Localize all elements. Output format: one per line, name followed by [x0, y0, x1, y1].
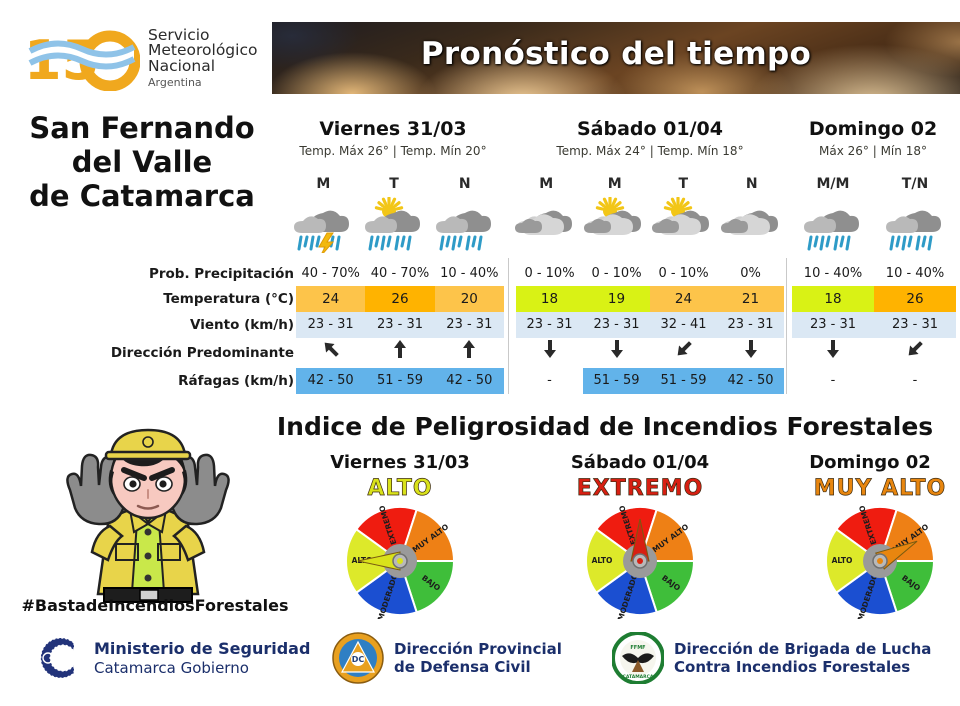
sun-cloud-rain-icon	[362, 197, 426, 253]
wind-cell: 23 - 31	[516, 312, 583, 338]
defensa-civil-badge-icon: DC	[332, 632, 384, 684]
gust-cell: -	[792, 368, 874, 394]
arrow-down-icon	[540, 338, 560, 360]
gust-cell: 42 - 50	[296, 368, 365, 394]
day-header-friday: Viernes 31/03 Temp. Máx 26° | Temp. Mín …	[280, 118, 506, 158]
footer-line-2: Catamarca Gobierno	[94, 659, 310, 677]
table-row: 242620	[296, 286, 504, 312]
gust-cell: -	[516, 368, 583, 394]
wind-direction-cell	[792, 338, 874, 368]
table-row: 23 - 3123 - 31	[792, 312, 956, 338]
prec-cell: 10 - 40%	[435, 262, 504, 286]
svg-text:ALTO: ALTO	[592, 556, 613, 565]
prec-cell: 0%	[717, 262, 784, 286]
data-grid-saturday: 0 - 10%0 - 10%0 - 10%0%1819242123 - 3123…	[516, 262, 784, 394]
catamarca-c-logo-icon	[28, 630, 84, 686]
wind-cell: 23 - 31	[874, 312, 956, 338]
row-label-gusts: Ráfagas (km/h)	[96, 368, 294, 394]
table-row: 1826	[792, 286, 956, 312]
weather-icon-cell	[429, 196, 500, 254]
footer-line-2: de Defensa Civil	[394, 658, 562, 676]
city-line-2: del Valle	[6, 146, 278, 180]
wind-cell: 32 - 41	[650, 312, 717, 338]
slot-label: T	[359, 176, 430, 192]
prec-cell: 40 - 70%	[365, 262, 434, 286]
weather-icon-cell	[718, 196, 787, 254]
wind-direction-cell	[516, 338, 583, 368]
smn-logo-text: Servicio Meteorológico Nacional Argentin…	[148, 28, 257, 89]
day-name: Viernes 31/03	[280, 118, 506, 140]
fire-danger-gauge: EXTREMOMUY ALTOBAJOMODERADOALTO	[342, 503, 458, 619]
page-title: Pronóstico del tiempo	[272, 36, 960, 72]
table-row: 23 - 3123 - 3123 - 31	[296, 312, 504, 338]
cloud-rain-icon	[801, 197, 865, 253]
arrow-down-icon	[607, 338, 627, 360]
gust-cell: 51 - 59	[365, 368, 434, 394]
arrow-up-icon	[459, 338, 479, 360]
icon-row-sunday	[792, 196, 956, 254]
cloud-icon	[514, 197, 578, 253]
temp-cell: 19	[583, 286, 650, 312]
prec-cell: 0 - 10%	[650, 262, 717, 286]
arrow-up-icon	[390, 338, 410, 360]
wind-direction-cell	[874, 338, 956, 368]
temp-cell: 20	[435, 286, 504, 312]
wind-direction-cell	[435, 338, 504, 368]
svg-text:ALTO: ALTO	[832, 556, 853, 565]
table-row: 10 - 40%10 - 40%	[792, 262, 956, 286]
arrow-down-left-icon	[674, 338, 694, 360]
table-row-labels: Prob. Precipitación Temperatura (°C) Vie…	[96, 262, 294, 394]
day-name: Domingo 02	[790, 118, 956, 140]
sun-cloud-icon	[583, 197, 647, 253]
day-temp-summary: Temp. Máx 24° | Temp. Mín 18°	[516, 144, 784, 158]
fire-day-sunday: Domingo 02	[780, 452, 960, 473]
row-label-wind: Viento (km/h)	[96, 312, 294, 338]
row-label-precipitation: Prob. Precipitación	[96, 262, 294, 286]
day-name: Sábado 01/04	[516, 118, 784, 140]
wind-cell: 23 - 31	[792, 312, 874, 338]
prec-cell: 40 - 70%	[296, 262, 365, 286]
wind-direction-cell	[296, 338, 365, 368]
temp-cell: 18	[516, 286, 583, 312]
slot-label: T/N	[874, 176, 956, 192]
fire-day-friday: Viernes 31/03	[300, 452, 500, 473]
fire-section-title: Indice de Peligrosidad de Incendios Fore…	[250, 412, 960, 441]
column-divider-2	[786, 258, 787, 394]
day-header-sunday: Domingo 02 Máx 26° | Mín 18°	[790, 118, 956, 158]
svg-text:DC: DC	[352, 655, 365, 664]
slot-label: M	[512, 176, 581, 192]
wind-cell: 23 - 31	[365, 312, 434, 338]
cloud-rain-icon	[883, 197, 947, 253]
temp-cell: 18	[792, 286, 874, 312]
column-divider-1	[508, 258, 509, 394]
header-banner: Pronóstico del tiempo	[272, 22, 960, 94]
fire-level-label: ALTO	[310, 476, 490, 501]
sun-cloud-icon	[651, 197, 715, 253]
weather-icon-cell	[359, 196, 430, 254]
footer-entity-text: Ministerio de Seguridad Catamarca Gobier…	[94, 639, 310, 676]
gust-cell: 51 - 59	[583, 368, 650, 394]
footer-line-1: Dirección Provincial	[394, 640, 562, 658]
table-row: 18192421	[516, 286, 784, 312]
temp-cell: 21	[717, 286, 784, 312]
wind-direction-cell	[365, 338, 434, 368]
slot-label: M	[288, 176, 359, 192]
prec-cell: 0 - 10%	[583, 262, 650, 286]
table-row: --	[792, 368, 956, 394]
slot-label: M	[581, 176, 650, 192]
table-row	[296, 338, 504, 368]
gust-cell: 51 - 59	[650, 368, 717, 394]
smn-150-mark: 15	[22, 25, 140, 91]
footer-line-1: Ministerio de Seguridad	[94, 639, 310, 658]
day-header-saturday: Sábado 01/04 Temp. Máx 24° | Temp. Mín 1…	[516, 118, 784, 158]
gust-cell: -	[874, 368, 956, 394]
city-name: San Fernando del Valle de Catamarca	[6, 112, 278, 214]
slot-label: N	[718, 176, 787, 192]
storm-rain-icon	[291, 197, 355, 253]
arrow-down-left-icon	[905, 338, 925, 360]
fire-level-label: EXTREMO	[550, 476, 730, 501]
gust-cell: 42 - 50	[717, 368, 784, 394]
arrow-up-left-icon	[321, 338, 341, 360]
fire-gauge-saturday: EXTREMOEXTREMOMUY ALTOBAJOMODERADOALTO	[550, 476, 730, 619]
fire-gauge-friday: ALTOEXTREMOMUY ALTOBAJOMODERADOALTO	[310, 476, 490, 619]
arrow-down-icon	[823, 338, 843, 360]
table-row: 42 - 5051 - 5942 - 50	[296, 368, 504, 394]
table-row: -51 - 5951 - 5942 - 50	[516, 368, 784, 394]
wind-cell: 23 - 31	[296, 312, 365, 338]
table-row: 40 - 70%40 - 70%10 - 40%	[296, 262, 504, 286]
wind-direction-cell	[717, 338, 784, 368]
arrow-down-icon	[741, 338, 761, 360]
city-line-1: San Fernando	[6, 112, 278, 146]
svg-text:CATAMARCA: CATAMARCA	[623, 674, 654, 680]
smn-country: Argentina	[148, 77, 257, 88]
weather-icon-cell	[649, 196, 718, 254]
brigada-incendios-badge-icon: FFMF CATAMARCA	[612, 632, 664, 684]
temp-cell: 26	[365, 286, 434, 312]
temp-cell: 24	[296, 286, 365, 312]
smn-logo: 15 Servicio Meteorológico Nacional Argen…	[22, 22, 270, 94]
firefighter-mascot-icon	[30, 428, 266, 608]
footer-entity-text: Dirección de Brigada de Lucha Contra Inc…	[674, 640, 931, 676]
day-temp-summary: Máx 26° | Mín 18°	[790, 144, 956, 158]
footer-line-1: Dirección de Brigada de Lucha	[674, 640, 931, 658]
slot-label: M/M	[792, 176, 874, 192]
row-label-direction: Dirección Predominante	[96, 338, 294, 368]
temp-cell: 26	[874, 286, 956, 312]
weather-forecast-infographic: 15 Servicio Meteorológico Nacional Argen…	[0, 0, 960, 706]
city-line-3: de Catamarca	[6, 180, 278, 214]
slot-label: T	[649, 176, 718, 192]
weather-icon-cell	[792, 196, 874, 254]
wind-cell: 23 - 31	[717, 312, 784, 338]
cloud-rain-icon	[433, 197, 497, 253]
wind-direction-cell	[650, 338, 717, 368]
footer-line-2: Contra Incendios Forestales	[674, 658, 931, 676]
campaign-hashtag: #BastadeIncendiosForestales	[10, 596, 300, 615]
slot-row-saturday: MMTN	[512, 176, 786, 192]
table-row: 23 - 3123 - 3132 - 4123 - 31	[516, 312, 784, 338]
footer-entity-brigada: FFMF CATAMARCA Dirección de Brigada de L…	[612, 632, 931, 684]
data-grid-sunday: 10 - 40%10 - 40%182623 - 3123 - 31--	[792, 262, 956, 394]
svg-text:FFMF: FFMF	[630, 645, 645, 651]
prec-cell: 0 - 10%	[516, 262, 583, 286]
fire-gauge-sunday: MUY ALTOEXTREMOMUY ALTOBAJOMODERADOALTO	[790, 476, 960, 619]
weather-icon-cell	[512, 196, 581, 254]
wind-cell: 23 - 31	[435, 312, 504, 338]
weather-icon-cell	[288, 196, 359, 254]
prec-cell: 10 - 40%	[792, 262, 874, 286]
fire-danger-gauge: EXTREMOMUY ALTOBAJOMODERADOALTO	[822, 503, 938, 619]
temp-cell: 24	[650, 286, 717, 312]
smn-line-3: Nacional	[148, 59, 257, 75]
fire-day-saturday: Sábado 01/04	[540, 452, 740, 473]
slot-row-sunday: M/MT/N	[792, 176, 956, 192]
footer-entity-defensa-civil: DC Dirección Provincial de Defensa Civil	[332, 632, 562, 684]
footer-entity-ministerio: Ministerio de Seguridad Catamarca Gobier…	[28, 630, 310, 686]
weather-icon-cell	[581, 196, 650, 254]
icon-row-friday	[288, 196, 500, 254]
wind-direction-cell	[583, 338, 650, 368]
fire-level-label: MUY ALTO	[790, 476, 960, 501]
wind-cell: 23 - 31	[583, 312, 650, 338]
gust-cell: 42 - 50	[435, 368, 504, 394]
footer-entity-text: Dirección Provincial de Defensa Civil	[394, 640, 562, 676]
icon-row-saturday	[512, 196, 786, 254]
table-row	[516, 338, 784, 368]
cloud-icon	[720, 197, 784, 253]
slot-label: N	[429, 176, 500, 192]
prec-cell: 10 - 40%	[874, 262, 956, 286]
slot-row-friday: MTN	[288, 176, 500, 192]
weather-icon-cell	[874, 196, 956, 254]
fire-danger-gauge: EXTREMOMUY ALTOBAJOMODERADOALTO	[582, 503, 698, 619]
row-label-temperature: Temperatura (°C)	[96, 286, 294, 312]
day-temp-summary: Temp. Máx 26° | Temp. Mín 20°	[280, 144, 506, 158]
data-grid-friday: 40 - 70%40 - 70%10 - 40%24262023 - 3123 …	[296, 262, 504, 394]
table-row	[792, 338, 956, 368]
table-row: 0 - 10%0 - 10%0 - 10%0%	[516, 262, 784, 286]
